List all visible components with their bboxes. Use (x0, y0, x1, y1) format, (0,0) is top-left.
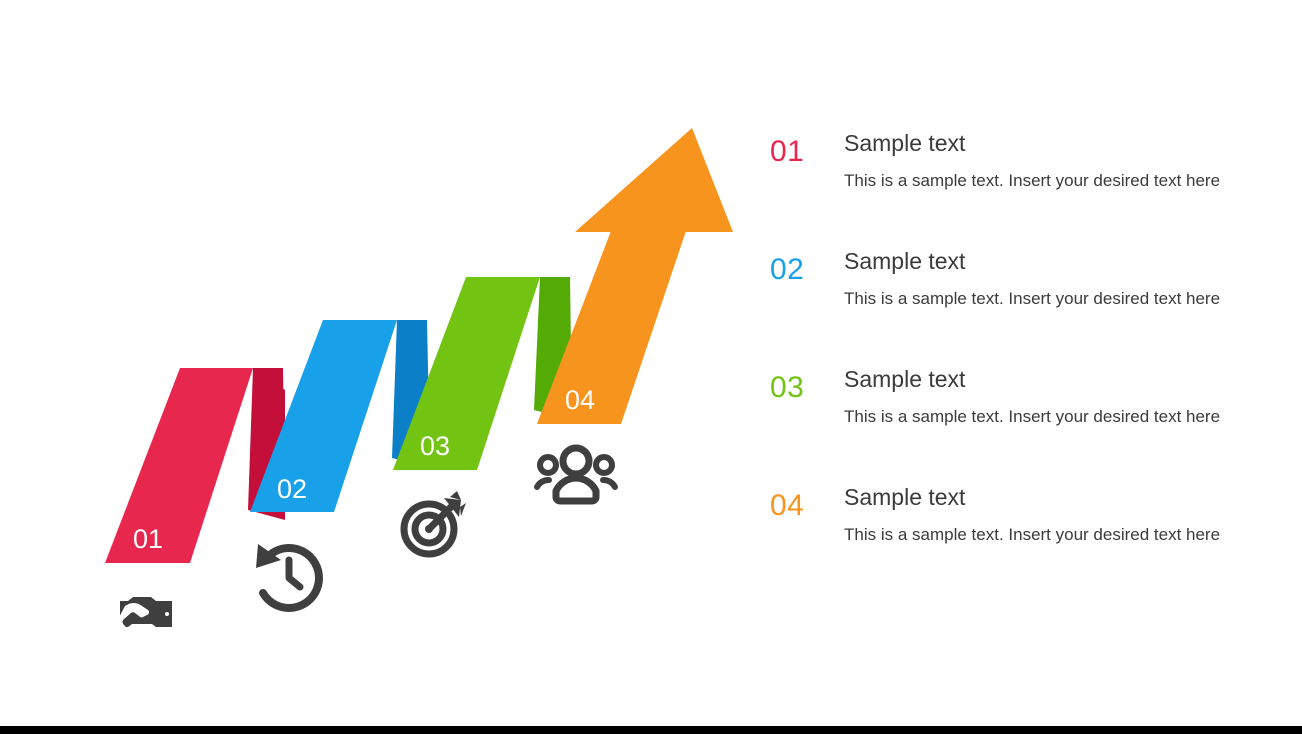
list-item-description: This is a sample text. Insert your desir… (844, 286, 1264, 312)
band-03-number: 03 (420, 431, 450, 461)
list-item-body: Sample text This is a sample text. Inser… (844, 364, 1290, 430)
list-item-body: Sample text This is a sample text. Inser… (844, 246, 1290, 312)
target-dart-icon (404, 491, 466, 554)
list-item-body: Sample text This is a sample text. Inser… (844, 128, 1290, 194)
slide-canvas: 01 02 03 04 (0, 0, 1302, 734)
history-clock-icon (256, 544, 319, 608)
list-item-title: Sample text (844, 246, 1290, 276)
band-01-number: 01 (133, 524, 163, 554)
list-item: 02 Sample text This is a sample text. In… (770, 246, 1290, 364)
band-02-number: 02 (277, 474, 307, 504)
band-04-number: 04 (565, 385, 595, 415)
bottom-rule (0, 726, 1302, 734)
list-item-number: 04 (770, 482, 844, 524)
list-item-number: 02 (770, 246, 844, 288)
list-item-description: This is a sample text. Insert your desir… (844, 522, 1264, 548)
list-item-description: This is a sample text. Insert your desir… (844, 404, 1264, 430)
step-list: 01 Sample text This is a sample text. In… (770, 128, 1290, 600)
list-item-title: Sample text (844, 482, 1290, 512)
list-item-number: 01 (770, 128, 844, 170)
band-04-arrow-head (575, 128, 733, 232)
list-item: 03 Sample text This is a sample text. In… (770, 364, 1290, 482)
handshake-icon (112, 597, 172, 640)
zigzag-arrow-chart: 01 02 03 04 (0, 0, 760, 700)
list-item-description: This is a sample text. Insert your desir… (844, 168, 1264, 194)
list-item-title: Sample text (844, 128, 1290, 158)
list-item-body: Sample text This is a sample text. Inser… (844, 482, 1290, 548)
list-item: 04 Sample text This is a sample text. In… (770, 482, 1290, 600)
list-item-title: Sample text (844, 364, 1290, 394)
list-item: 01 Sample text This is a sample text. In… (770, 128, 1290, 246)
band-01-face (105, 368, 253, 563)
people-group-icon (537, 448, 615, 501)
list-item-number: 03 (770, 364, 844, 406)
